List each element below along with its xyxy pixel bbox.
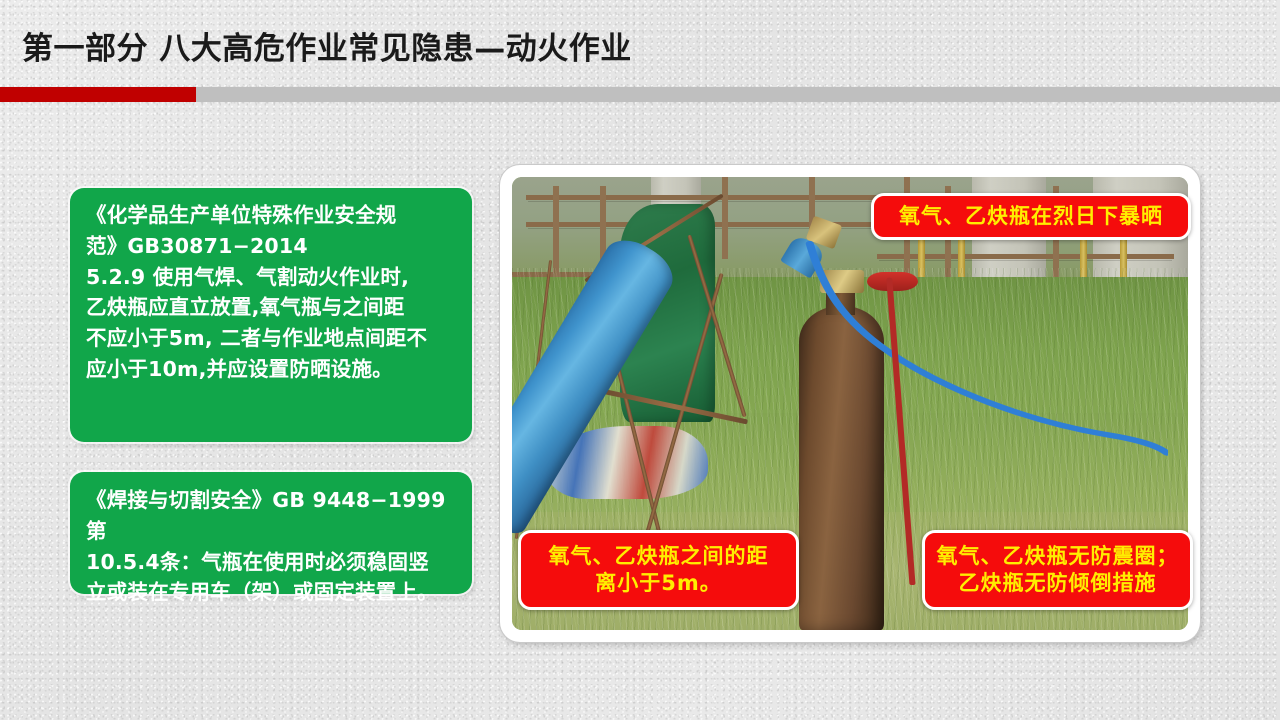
regulation-box-gb9448: 《焊接与切割安全》GB 9448−1999第 10.5.4条：气瓶在使用时必须稳… [70, 472, 472, 594]
acetylene-cylinder [799, 306, 884, 630]
regulation-line: 《化学品生产单位特殊作业安全规 [86, 200, 456, 231]
regulation-line: 立或装在专用车（架）或固定装置上。 [86, 577, 456, 608]
regulation-line: 《焊接与切割安全》GB 9448−1999第 [86, 485, 456, 547]
callout-line: 乙炔瓶无防倾倒措施 [937, 570, 1179, 597]
callout-line: 离小于5m。 [549, 570, 769, 597]
regulation-line: 应小于10m,并应设置防晒设施。 [86, 354, 456, 385]
callout-sun-exposure: 氧气、乙炔瓶在烈日下暴晒 [871, 193, 1191, 240]
header-accent-bar [0, 87, 1280, 102]
callout-line: 氧气、乙炔瓶在烈日下暴晒 [899, 203, 1163, 230]
regulation-line: 乙炔瓶应直立放置,氧气瓶与之间距 [86, 292, 456, 323]
regulation-line: 10.5.4条：气瓶在使用时必须稳固竖 [86, 547, 456, 578]
accent-bar-gray-segment [196, 87, 1280, 102]
regulation-box-gb30871: 《化学品生产单位特殊作业安全规 范》GB30871−2014 5.2.9 使用气… [70, 188, 472, 442]
regulation-line: 范》GB30871−2014 [86, 231, 456, 262]
slide-canvas: 第一部分 八大高危作业常见隐患—动火作业 《化学品生产单位特殊作业安全规 范》G… [0, 0, 1280, 720]
acetylene-cylinder-valve [820, 270, 864, 293]
callout-distance: 氧气、乙炔瓶之间的距 离小于5m。 [518, 530, 799, 610]
scaffold-rail [526, 195, 932, 200]
callout-line: 氧气、乙炔瓶无防震圈； [937, 543, 1179, 570]
page-title: 第一部分 八大高危作业常见隐患—动火作业 [22, 31, 632, 68]
scaffold-post [722, 177, 728, 259]
callout-line: 氧气、乙炔瓶之间的距 [549, 543, 769, 570]
regulation-line: 5.2.9 使用气焊、气割动火作业时, [86, 262, 456, 293]
accent-bar-red-segment [0, 87, 196, 102]
callout-no-shock-ring: 氧气、乙炔瓶无防震圈； 乙炔瓶无防倾倒措施 [922, 530, 1193, 610]
regulation-line: 不应小于5m, 二者与作业地点间距不 [86, 323, 456, 354]
